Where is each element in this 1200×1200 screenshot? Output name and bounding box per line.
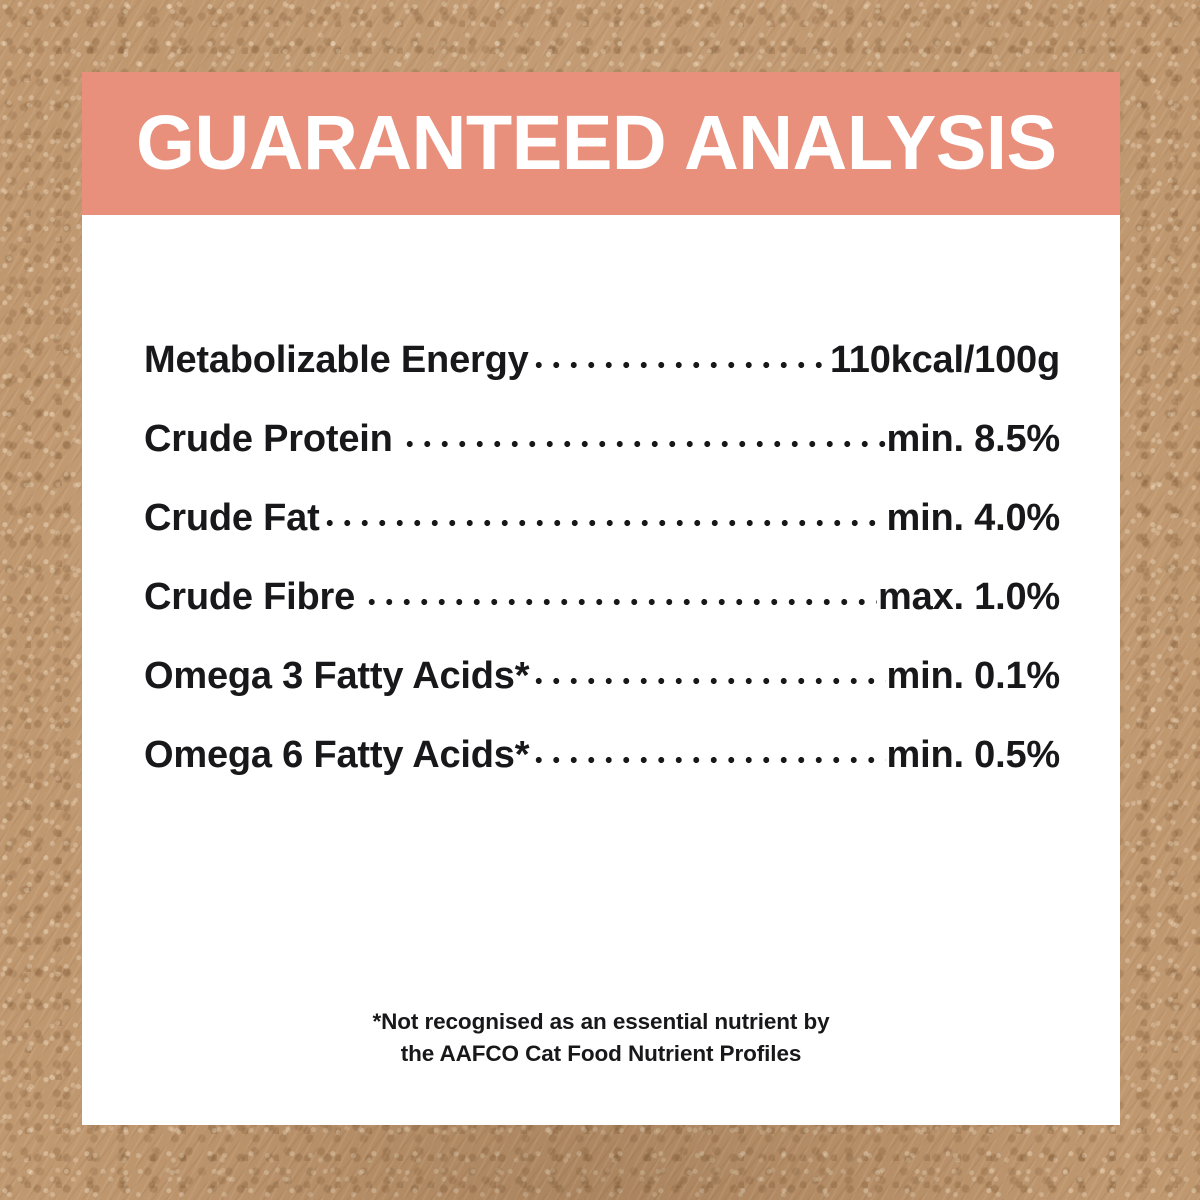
table-row: Omega 3 Fatty Acids* min. 0.1% bbox=[144, 650, 1060, 729]
nutrient-label: Metabolizable Energy bbox=[144, 339, 529, 382]
footnote: *Not recognised as an essential nutrient… bbox=[82, 1006, 1120, 1070]
packaging-label-panel: GUARANTEED ANALYSIS Metabolizable Energy… bbox=[0, 0, 1200, 1200]
header-band: GUARANTEED ANALYSIS bbox=[82, 72, 1120, 215]
dot-leader bbox=[363, 571, 877, 609]
guaranteed-analysis-card: GUARANTEED ANALYSIS Metabolizable Energy… bbox=[82, 72, 1120, 1125]
table-row: Crude Fibre max. 1.0% bbox=[144, 571, 1060, 650]
nutrient-value: min. 8.5% bbox=[887, 418, 1061, 461]
analysis-table: Metabolizable Energy 110kcal/100g Crude … bbox=[144, 334, 1060, 808]
nutrient-label: Omega 3 Fatty Acids* bbox=[144, 655, 529, 698]
nutrient-label: Omega 6 Fatty Acids* bbox=[144, 734, 529, 777]
dot-leader bbox=[530, 729, 885, 767]
page-title: GUARANTEED ANALYSIS bbox=[136, 105, 1057, 182]
nutrient-value: min. 0.1% bbox=[887, 655, 1061, 698]
footnote-line-2: the AAFCO Cat Food Nutrient Profiles bbox=[82, 1038, 1120, 1070]
nutrient-label: Crude Protein bbox=[144, 418, 400, 461]
nutrient-label: Crude Fat bbox=[144, 497, 320, 540]
dot-leader bbox=[530, 650, 885, 688]
nutrient-value: min. 0.5% bbox=[887, 734, 1061, 777]
nutrient-value: max. 1.0% bbox=[878, 576, 1060, 619]
dot-leader bbox=[401, 413, 886, 451]
table-row: Crude Protein min. 8.5% bbox=[144, 413, 1060, 492]
dot-leader bbox=[530, 334, 829, 372]
footnote-line-1: *Not recognised as an essential nutrient… bbox=[82, 1006, 1120, 1038]
table-row: Omega 6 Fatty Acids* min. 0.5% bbox=[144, 729, 1060, 808]
dot-leader bbox=[321, 492, 886, 530]
nutrient-label: Crude Fibre bbox=[144, 576, 362, 619]
table-row: Metabolizable Energy 110kcal/100g bbox=[144, 334, 1060, 413]
nutrient-value: min. 4.0% bbox=[887, 497, 1061, 540]
table-row: Crude Fat min. 4.0% bbox=[144, 492, 1060, 571]
nutrient-value: 110kcal/100g bbox=[830, 339, 1060, 382]
